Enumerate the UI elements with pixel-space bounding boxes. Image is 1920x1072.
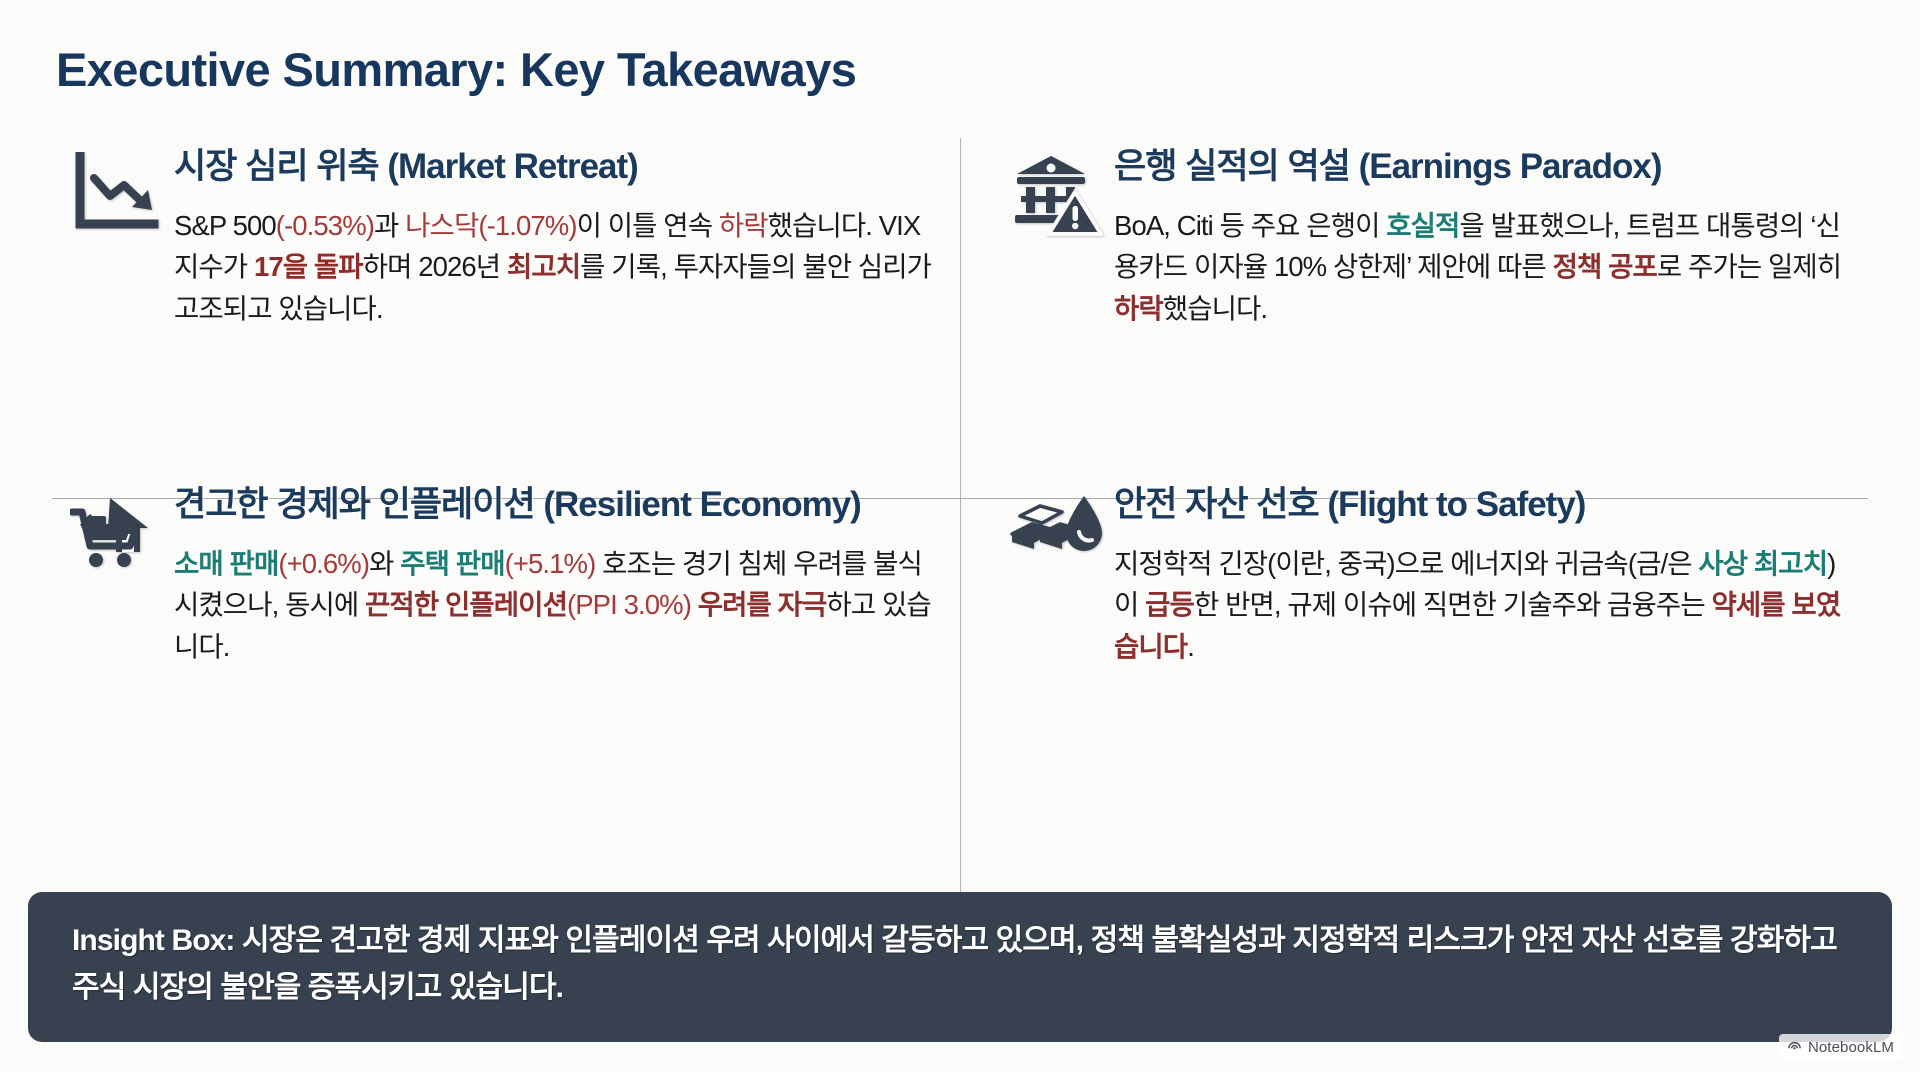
text-run: 했습니다. (1163, 293, 1267, 324)
quadrant-heading: 안전 자산 선호 (Flight to Safety) (1114, 484, 1842, 527)
text-run: S&P 500 (174, 210, 276, 241)
text-run: (+5.1%) (505, 548, 596, 579)
text-run: 호실적 (1386, 210, 1459, 241)
text-run: 끈적한 인플레이션 (365, 589, 567, 620)
text-run: 과 (374, 210, 405, 241)
text-run: 와 (369, 548, 400, 579)
quadrant-heading: 은행 실적의 역설 (Earnings Paradox) (1114, 146, 1842, 189)
text-run: 우려를 자극 (691, 589, 826, 620)
quadrant-body: 은행 실적의 역설 (Earnings Paradox) BoA, Citi 등… (1114, 146, 1842, 330)
quadrant-body: 견고한 경제와 인플레이션 (Resilient Economy) 소매 판매(… (174, 484, 934, 668)
gold-bars-oil-drop-icon (1002, 484, 1114, 562)
quadrant-heading: 시장 심리 위축 (Market Retreat) (174, 146, 934, 189)
text-run: . (1187, 631, 1194, 662)
quadrant-body: 안전 자산 선호 (Flight to Safety) 지정학적 긴장(이란, … (1114, 484, 1842, 668)
text-run: 한 반면, 규제 이슈에 직면한 기술주와 금융주는 (1194, 589, 1712, 620)
quadrant-text: 소매 판매(+0.6%)와 주택 판매(+5.1%) 호조는 경기 침체 우려를… (174, 543, 934, 668)
declining-chart-icon (62, 146, 174, 234)
quadrant-earnings-paradox: 은행 실적의 역설 (Earnings Paradox) BoA, Citi 등… (960, 128, 1868, 458)
text-run: 하며 2026년 (363, 251, 507, 282)
bank-warning-icon (1002, 146, 1114, 236)
insight-label: Insight Box: (72, 924, 235, 957)
insight-text: Insight Box: 시장은 견고한 경제 지표와 인플레이션 우려 사이에… (72, 918, 1848, 1011)
insight-body: 시장은 견고한 경제 지표와 인플레이션 우려 사이에서 갈등하고 있으며, 정… (72, 924, 1837, 1004)
text-run: 이 이틀 연속 (577, 210, 719, 241)
text-run: 급등 (1145, 589, 1194, 620)
text-run: 하락 (719, 210, 768, 241)
text-run: 소매 판매 (174, 548, 278, 579)
text-run: 정책 공포 (1553, 251, 1657, 282)
notebooklm-watermark: NotebookLM (1779, 1034, 1902, 1060)
notebooklm-logo-icon (1787, 1037, 1802, 1057)
text-run: 사상 최고치 (1698, 548, 1827, 579)
text-run: (+0.6%) (278, 548, 369, 579)
text-run: 로 주가는 일제히 (1657, 251, 1841, 282)
cart-house-icon (62, 484, 174, 574)
watermark-label: NotebookLM (1808, 1039, 1894, 1056)
quadrant-body: 시장 심리 위축 (Market Retreat) S&P 500(-0.53%… (174, 146, 934, 330)
quadrant-flight-to-safety: 안전 자산 선호 (Flight to Safety) 지정학적 긴장(이란, … (960, 458, 1868, 848)
text-run: 최고치 (507, 251, 580, 282)
quadrant-text: S&P 500(-0.53%)과 나스닥(-1.07%)이 이틀 연속 하락했습… (174, 205, 934, 330)
quadrant-text: 지정학적 긴장(이란, 중국)으로 에너지와 귀금속(금/은 사상 최고치)이 … (1114, 543, 1842, 668)
text-run: 지정학적 긴장(이란, 중국)으로 에너지와 귀금속(금/은 (1114, 548, 1698, 579)
text-run: 17을 돌파 (254, 251, 363, 282)
slide-root: Executive Summary: Key Takeaways 시장 심리 위… (0, 0, 1920, 1072)
page-title: Executive Summary: Key Takeaways (56, 42, 856, 97)
text-run: (PPI 3.0%) (567, 589, 691, 620)
text-run: BoA, Citi 등 주요 은행이 (1114, 210, 1386, 241)
quadrant-market-retreat: 시장 심리 위축 (Market Retreat) S&P 500(-0.53%… (52, 128, 960, 458)
text-run: 주택 판매 (400, 548, 504, 579)
text-run: 나스닥(-1.07%) (405, 210, 576, 241)
text-run: 하락 (1114, 293, 1163, 324)
quadrant-heading: 견고한 경제와 인플레이션 (Resilient Economy) (174, 484, 934, 527)
quadrant-grid: 시장 심리 위축 (Market Retreat) S&P 500(-0.53%… (52, 128, 1868, 848)
quadrant-text: BoA, Citi 등 주요 은행이 호실적을 발표했으나, 트럼프 대통령의 … (1114, 205, 1842, 330)
quadrant-resilient-economy: 견고한 경제와 인플레이션 (Resilient Economy) 소매 판매(… (52, 458, 960, 848)
text-run: (-0.53%) (276, 210, 374, 241)
insight-box: Insight Box: 시장은 견고한 경제 지표와 인플레이션 우려 사이에… (28, 892, 1892, 1042)
